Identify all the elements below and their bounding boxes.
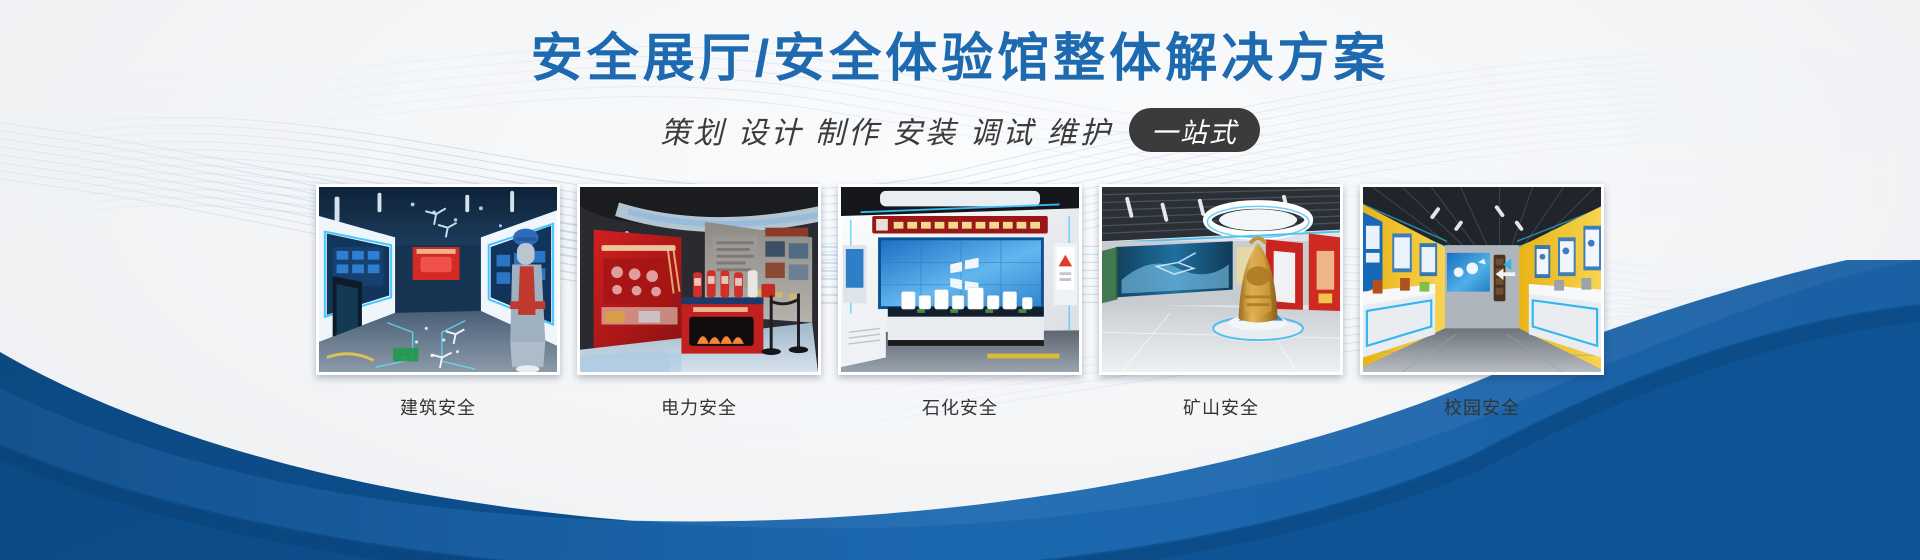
banner-content: 安全展厅/安全体验馆整体解决方案 策划 设计 制作 安装 调试 维护 一站式 [0, 0, 1920, 560]
thumbnail-gallery: 建筑安全 [310, 184, 1610, 420]
thumbnail-item[interactable]: 石化安全 [832, 184, 1088, 420]
exhibition-hall-photo[interactable] [1360, 184, 1604, 375]
thumbnail-item[interactable]: 矿山安全 [1093, 184, 1349, 420]
thumbnail-caption: 校园安全 [1444, 394, 1520, 420]
exhibition-hall-photo[interactable] [1099, 184, 1343, 375]
service-steps-text: 策划 设计 制作 安装 调试 维护 [660, 108, 1113, 152]
exhibition-hall-photo[interactable] [838, 184, 1082, 375]
thumbnail-item[interactable]: 校园安全 [1354, 184, 1610, 420]
thumbnail-item[interactable]: 建筑安全 [310, 184, 566, 420]
exhibition-hall-photo[interactable] [316, 184, 560, 375]
subtitle-row: 策划 设计 制作 安装 调试 维护 一站式 [660, 108, 1260, 152]
exhibition-hall-photo[interactable] [577, 184, 821, 375]
thumbnail-caption: 建筑安全 [400, 394, 476, 420]
page-title: 安全展厅/安全体验馆整体解决方案 [531, 28, 1389, 90]
banner-root: 安全展厅/安全体验馆整体解决方案 策划 设计 制作 安装 调试 维护 一站式 [0, 0, 1920, 560]
one-stop-badge: 一站式 [1129, 108, 1260, 152]
thumbnail-caption: 电力安全 [661, 394, 737, 420]
thumbnail-caption: 石化安全 [922, 394, 998, 420]
thumbnail-caption: 矿山安全 [1183, 394, 1259, 420]
thumbnail-item[interactable]: 电力安全 [571, 184, 827, 420]
